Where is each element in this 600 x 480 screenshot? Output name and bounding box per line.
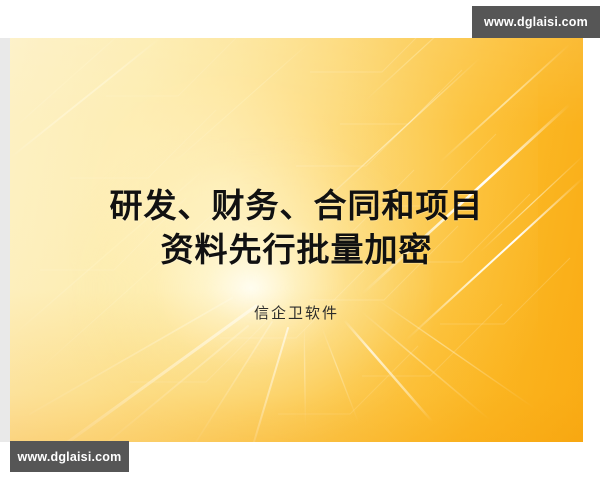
page-canvas: 研发、财务、合同和项目 资料先行批量加密 信企卫软件 www.dglaisi.c… <box>0 0 600 480</box>
banner-image: 研发、财务、合同和项目 资料先行批量加密 信企卫软件 <box>10 38 583 442</box>
banner-title-line-1: 研发、财务、合同和项目 <box>10 184 583 228</box>
circuit-lines-decoration <box>10 38 583 442</box>
background-glow-core <box>71 138 431 438</box>
banner-text-block: 研发、财务、合同和项目 资料先行批量加密 信企卫软件 <box>10 184 583 324</box>
bottom-shade-overlay <box>10 38 583 442</box>
background-glow-wide <box>10 38 538 442</box>
watermark-bottom-left: www.dglaisi.com <box>10 441 129 472</box>
banner-subtitle: 信企卫软件 <box>10 304 583 324</box>
banner-title-line-2: 资料先行批量加密 <box>10 228 583 272</box>
watermark-top-right: www.dglaisi.com <box>472 6 600 38</box>
radiating-rays-decoration <box>10 38 583 442</box>
light-streaks-decoration <box>10 38 583 442</box>
